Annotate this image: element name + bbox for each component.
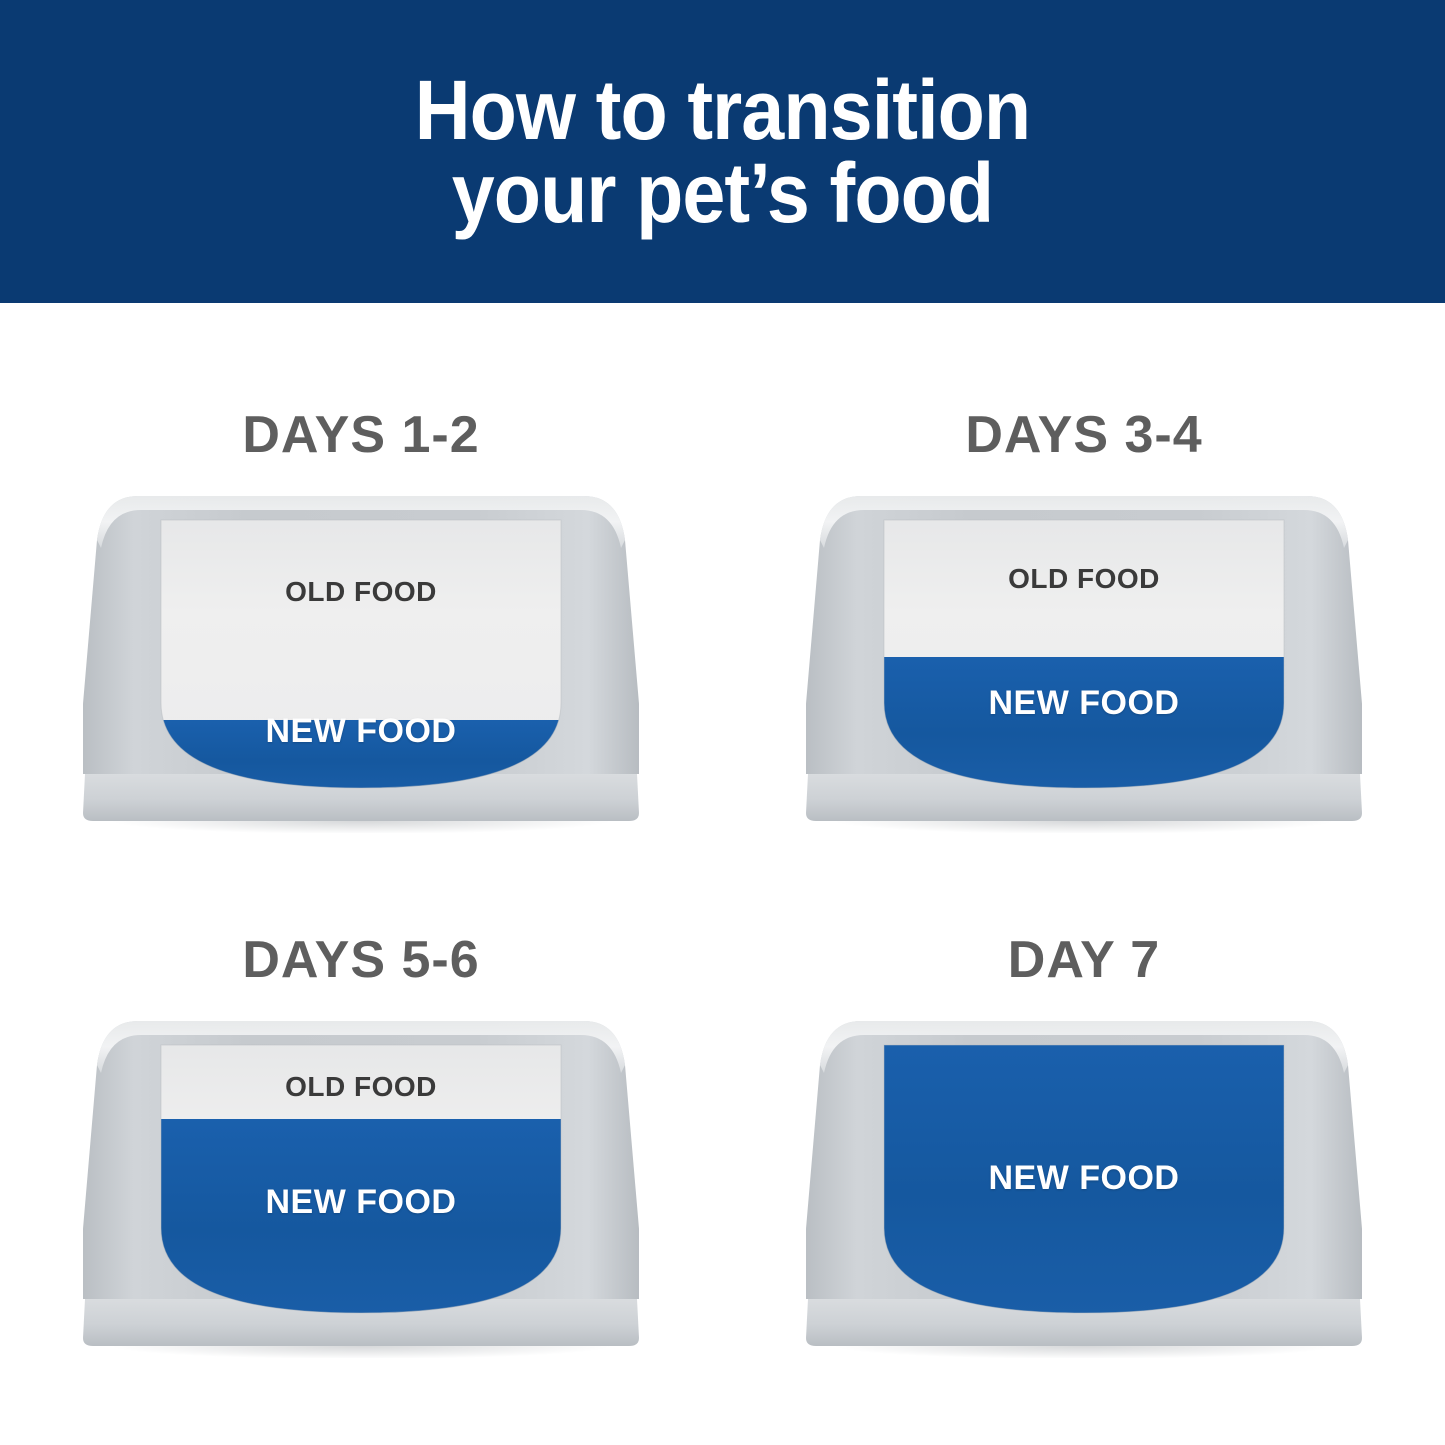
bowl-day-7: NEW FOOD <box>806 1013 1362 1358</box>
infographic-page: How to transition your pet’s food DAYS 1… <box>0 0 1445 1445</box>
bowl-illustration-icon <box>83 488 639 833</box>
page-title: How to transition your pet’s food <box>378 69 1067 234</box>
page-title-line-1: How to transition <box>415 69 1030 151</box>
bowl-illustration-icon <box>806 1013 1362 1358</box>
transition-steps-grid: DAYS 1-2 <box>0 303 1445 1445</box>
step-panel-day-7: DAY 7 <box>723 828 1445 1399</box>
header-banner: How to transition your pet’s food <box>0 0 1445 303</box>
step-panel-days-3-4: DAYS 3-4 <box>723 303 1445 874</box>
bowl-illustration-icon <box>83 1013 639 1358</box>
step-panel-days-1-2: DAYS 1-2 <box>0 303 722 874</box>
bowl-days-3-4: OLD FOOD NEW FOOD <box>806 488 1362 833</box>
bowl-days-5-6: OLD FOOD NEW FOOD <box>83 1013 639 1358</box>
step-panel-days-5-6: DAYS 5-6 <box>0 828 722 1399</box>
step-title-days-1-2: DAYS 1-2 <box>0 405 722 465</box>
step-title-days-3-4: DAYS 3-4 <box>723 405 1445 465</box>
new-food-fill <box>153 1119 569 1321</box>
page-title-line-2: your pet’s food <box>415 152 1030 234</box>
step-title-day-7: DAY 7 <box>723 930 1445 990</box>
new-food-fill <box>876 1039 1292 1321</box>
bowl-illustration-icon <box>806 488 1362 833</box>
step-title-days-5-6: DAYS 5-6 <box>0 930 722 990</box>
bowl-days-1-2: OLD FOOD NEW FOOD <box>83 488 639 833</box>
